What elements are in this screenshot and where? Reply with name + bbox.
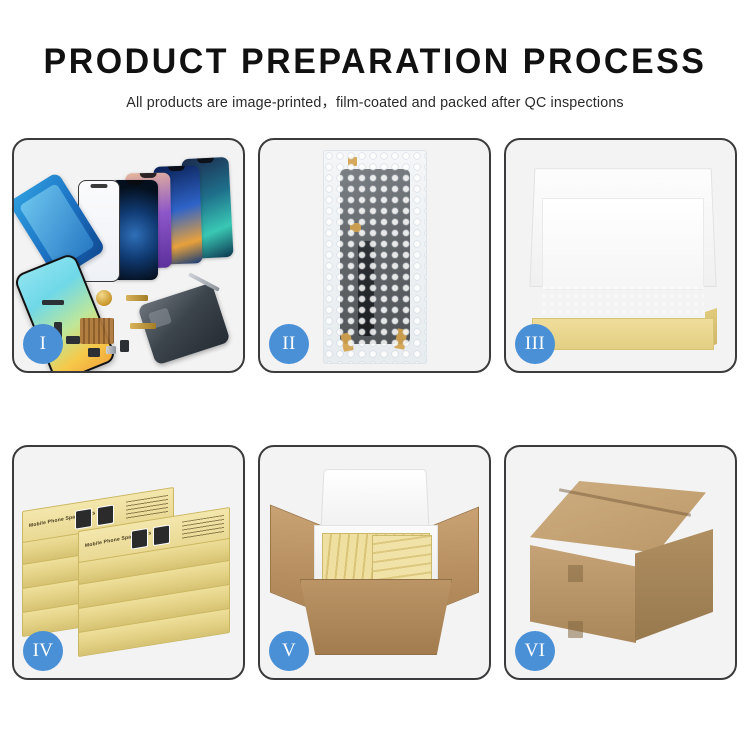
process-panel-5: V [258,445,491,680]
bubble-wrap-bag-icon [323,150,427,364]
component-chip-icon [66,336,80,344]
box-stack-icon: Mobile Phone Spare Parts Mobile Phone Sp… [20,471,238,661]
process-panel-grid: I II [12,138,738,680]
panel-5-illustration: V [260,447,489,678]
process-panel-4: Mobile Phone Spare Parts Mobile Phone Sp… [12,445,245,680]
foam-lid-icon [320,469,429,533]
label-phone-icon [153,524,170,546]
panel-2-illustration: II [260,140,489,371]
panel-1-illustration: I [14,140,243,371]
panel-6-illustration: VI [506,447,735,678]
label-phone-icon [75,508,92,530]
carton-body-icon [300,579,452,655]
header: PRODUCT PREPARATION PROCESS All products… [0,0,750,112]
label-spec-lines [182,515,224,541]
panel-4-illustration: Mobile Phone Spare Parts Mobile Phone Sp… [14,447,243,678]
carton-left-face-icon [530,545,636,643]
component-chip-icon [106,346,116,354]
panel-2-numeral-badge: II [269,324,309,364]
process-panel-3: III [504,138,737,373]
carton-handle-tab-icon [568,621,583,638]
process-panel-6: VI [504,445,737,680]
process-panel-1: I [12,138,245,373]
process-panel-2: II [258,138,491,373]
carton-handle-tab-icon [568,565,583,582]
page-subtitle: All products are image-printed，film-coat… [0,82,750,112]
packed-boxes-icon [372,535,432,581]
label-phone-icon [97,504,114,526]
label-phone-icon [131,528,148,550]
component-chip-icon [88,348,100,357]
screw-grid-icon [80,318,114,344]
flex-cable-icon [126,295,148,301]
bubble-texture-icon [324,151,426,363]
panel-3-numeral-badge: III [515,324,555,364]
panel-5-numeral-badge: V [269,631,309,671]
component-chip-icon [120,340,129,352]
page-title: PRODUCT PREPARATION PROCESS [11,0,739,82]
box-front-icon [532,318,714,350]
panel-3-illustration: III [506,140,735,371]
panel-1-numeral-badge: I [23,324,63,364]
bubble-padding-icon [540,284,704,322]
vibration-motor-icon [96,290,112,306]
panel-4-numeral-badge: IV [23,631,63,671]
panel-6-numeral-badge: VI [515,631,555,671]
component-chip-icon [42,300,64,305]
foam-sheet-icon [542,198,704,290]
flex-cable-icon [130,323,156,329]
product-preparation-infographic: PRODUCT PREPARATION PROCESS All products… [0,0,750,750]
